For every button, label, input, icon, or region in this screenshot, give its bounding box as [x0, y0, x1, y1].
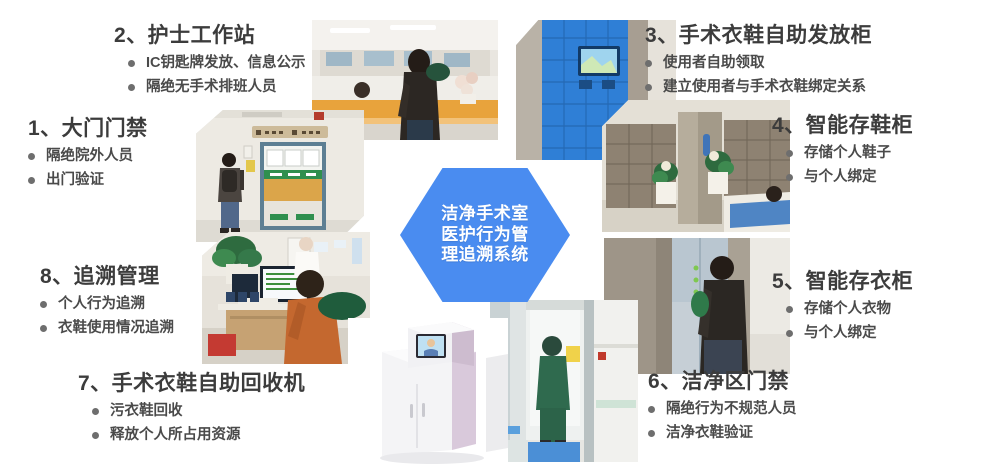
item-1-bullet-1: 隔绝院外人员 [46, 145, 133, 168]
bullet-dot-icon [92, 432, 99, 439]
list-item: 建立使用者与手术衣鞋绑定关系 [645, 76, 872, 99]
item-4-block: 4、智能存鞋柜 存储个人鞋子 与个人绑定 [772, 114, 913, 189]
item-2-heading: 2、护士工作站 [114, 24, 306, 48]
bullet-dot-icon [128, 84, 135, 91]
list-item: 存储个人衣物 [772, 298, 913, 321]
item-8-block: 8、追溯管理 个人行为追溯 衣鞋使用情况追溯 [40, 265, 174, 340]
item-5-bullet-2: 与个人绑定 [804, 322, 877, 345]
bullet-dot-icon [28, 153, 35, 160]
item-2-bullet-2: 隔绝无手术排班人员 [146, 76, 277, 99]
item-3-bullets: 使用者自助领取 建立使用者与手术衣鞋绑定关系 [645, 52, 872, 99]
item-3-block: 3、手术衣鞋自助发放柜 使用者自助领取 建立使用者与手术衣鞋绑定关系 [645, 24, 872, 99]
item-2-bullets: IC钥匙牌发放、信息公示 隔绝无手术排班人员 [114, 52, 306, 99]
list-item: 隔绝行为不规范人员 [648, 398, 797, 421]
list-item: 隔绝无手术排班人员 [114, 76, 306, 99]
bullet-dot-icon [786, 306, 793, 313]
item-2-bullet-1: IC钥匙牌发放、信息公示 [146, 52, 306, 75]
bullet-dot-icon [128, 60, 135, 67]
item-1-block: 1、大门门禁 隔绝院外人员 出门验证 [28, 117, 148, 192]
item-1-bullet-2: 出门验证 [46, 169, 104, 192]
bullet-dot-icon [645, 60, 652, 67]
item-7-block: 7、手术衣鞋自助回收机 污衣鞋回收 释放个人所占用资源 [78, 372, 305, 447]
scrub-recycling-machine-photo [348, 318, 508, 464]
list-item: 释放个人所占用资源 [78, 424, 305, 447]
list-item: 个人行为追溯 [40, 293, 174, 316]
bullet-dot-icon [40, 325, 47, 332]
item-4-bullet-2: 与个人绑定 [804, 166, 877, 189]
item-4-bullet-1: 存储个人鞋子 [804, 142, 891, 165]
smart-shoe-locker-photo [602, 100, 790, 232]
item-8-heading: 8、追溯管理 [40, 265, 174, 289]
item-3-bullet-2: 建立使用者与手术衣鞋绑定关系 [663, 76, 866, 99]
item-6-bullets: 隔绝行为不规范人员 洁净衣鞋验证 [648, 398, 797, 445]
list-item: 与个人绑定 [772, 166, 913, 189]
list-item: 与个人绑定 [772, 322, 913, 345]
item-1-bullets: 隔绝院外人员 出门验证 [28, 145, 148, 192]
item-7-heading: 7、手术衣鞋自助回收机 [78, 372, 305, 396]
item-1-heading: 1、大门门禁 [28, 117, 148, 141]
item-6-bullet-1: 隔绝行为不规范人员 [666, 398, 797, 421]
bullet-dot-icon [40, 301, 47, 308]
traceability-management-photo [202, 232, 370, 364]
bullet-dot-icon [648, 406, 655, 413]
item-4-heading: 4、智能存鞋柜 [772, 114, 913, 138]
item-5-heading: 5、智能存衣柜 [772, 270, 913, 294]
bullet-dot-icon [786, 150, 793, 157]
bullet-dot-icon [786, 330, 793, 337]
center-badge-label: 洁净手术室医护行为管理追溯系统 [433, 204, 537, 266]
list-item: 污衣鞋回收 [78, 400, 305, 423]
list-item: 洁净衣鞋验证 [648, 422, 797, 445]
clean-zone-access-control-photo [490, 300, 638, 462]
item-5-block: 5、智能存衣柜 存储个人衣物 与个人绑定 [772, 270, 913, 345]
item-8-bullet-1: 个人行为追溯 [58, 293, 145, 316]
item-6-heading: 6、洁净区门禁 [648, 370, 797, 394]
item-2-block: 2、护士工作站 IC钥匙牌发放、信息公示 隔绝无手术排班人员 [114, 24, 306, 99]
item-7-bullet-1: 污衣鞋回收 [110, 400, 183, 423]
item-7-bullets: 污衣鞋回收 释放个人所占用资源 [78, 400, 305, 447]
item-3-heading: 3、手术衣鞋自助发放柜 [645, 24, 872, 48]
list-item: 出门验证 [28, 169, 148, 192]
list-item: IC钥匙牌发放、信息公示 [114, 52, 306, 75]
infographic-canvas: 洁净手术室医护行为管理追溯系统 2、护士工作站 IC钥匙牌发放、信息公示 隔绝无… [0, 0, 984, 470]
item-4-bullets: 存储个人鞋子 与个人绑定 [772, 142, 913, 189]
entrance-access-control-photo [196, 110, 364, 242]
bullet-dot-icon [92, 408, 99, 415]
item-8-bullets: 个人行为追溯 衣鞋使用情况追溯 [40, 293, 174, 340]
bullet-dot-icon [645, 84, 652, 91]
item-8-bullet-2: 衣鞋使用情况追溯 [58, 317, 174, 340]
list-item: 衣鞋使用情况追溯 [40, 317, 174, 340]
item-5-bullets: 存储个人衣物 与个人绑定 [772, 298, 913, 345]
bullet-dot-icon [648, 430, 655, 437]
item-3-bullet-1: 使用者自助领取 [663, 52, 765, 75]
center-badge: 洁净手术室医护行为管理追溯系统 [400, 168, 570, 302]
item-6-bullet-2: 洁净衣鞋验证 [666, 422, 753, 445]
list-item: 存储个人鞋子 [772, 142, 913, 165]
item-5-bullet-1: 存储个人衣物 [804, 298, 891, 321]
list-item: 隔绝院外人员 [28, 145, 148, 168]
item-6-block: 6、洁净区门禁 隔绝行为不规范人员 洁净衣鞋验证 [648, 370, 797, 445]
list-item: 使用者自助领取 [645, 52, 872, 75]
bullet-dot-icon [786, 174, 793, 181]
item-7-bullet-2: 释放个人所占用资源 [110, 424, 241, 447]
bullet-dot-icon [28, 177, 35, 184]
